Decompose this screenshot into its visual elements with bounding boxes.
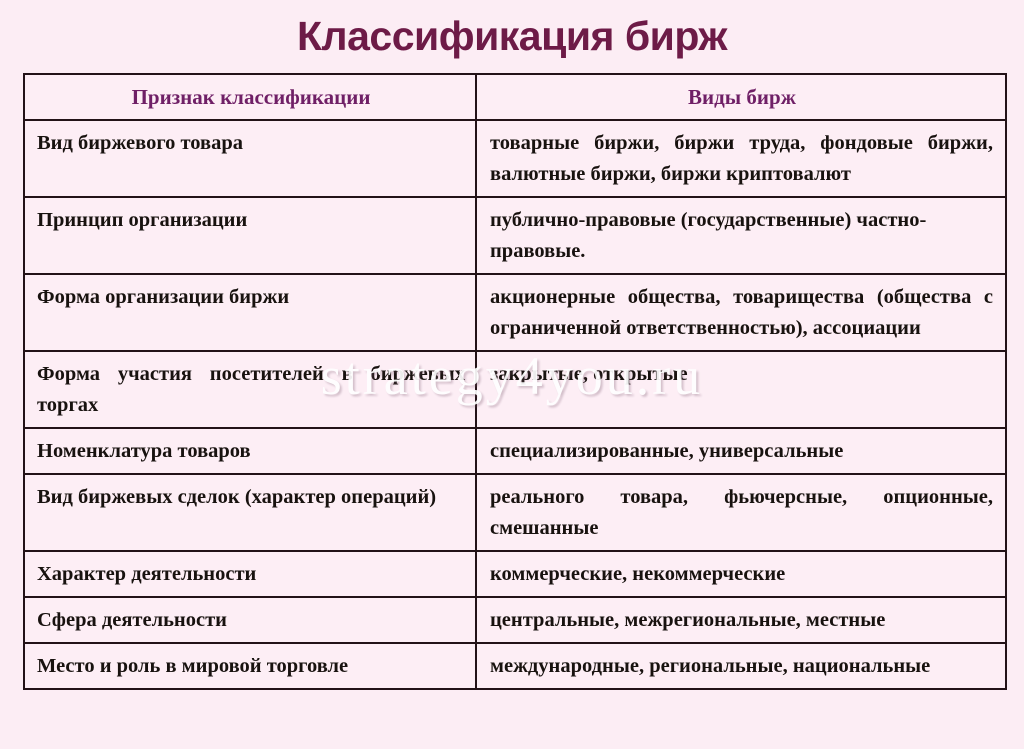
table-row: Вид биржевых сделок (характер операций) … xyxy=(24,474,1006,551)
table-row: Место и роль в мировой торговле междунар… xyxy=(24,643,1006,689)
table-row: Характер деятельности коммерческие, неко… xyxy=(24,551,1006,597)
cell-kinds: специализированные, универсальные xyxy=(476,428,1006,474)
cell-kinds: акционерные общества, товарищества (обще… xyxy=(476,274,1006,351)
table-row: Принцип организации публично-правовые (г… xyxy=(24,197,1006,274)
cell-feature: Сфера деятельности xyxy=(24,597,476,643)
cell-feature: Форма участия посетителей в биржевых тор… xyxy=(24,351,476,428)
cell-kinds: закрытые, открытые xyxy=(476,351,1006,428)
cell-kinds: международные, региональные, национальны… xyxy=(476,643,1006,689)
classification-table: Признак классификации Виды бирж Вид бирж… xyxy=(23,73,1007,690)
cell-feature: Форма организации биржи xyxy=(24,274,476,351)
cell-kinds: реального товара, фьючерсные, опционные,… xyxy=(476,474,1006,551)
table-head: Признак классификации Виды бирж xyxy=(24,74,1006,120)
cell-kinds: коммерческие, некоммерческие xyxy=(476,551,1006,597)
table-header-row: Признак классификации Виды бирж xyxy=(24,74,1006,120)
cell-kinds: публично-правовые (государственные) част… xyxy=(476,197,1006,274)
column-header-kinds: Виды бирж xyxy=(476,74,1006,120)
table-row: Сфера деятельности центральные, межрегио… xyxy=(24,597,1006,643)
table-body: Вид биржевого товара товарные биржи, бир… xyxy=(24,120,1006,689)
cell-feature: Место и роль в мировой торговле xyxy=(24,643,476,689)
cell-feature: Принцип организации xyxy=(24,197,476,274)
table-row: Форма участия посетителей в биржевых тор… xyxy=(24,351,1006,428)
cell-feature: Вид биржевых сделок (характер операций) xyxy=(24,474,476,551)
cell-kinds: товарные биржи, биржи труда, фондовые би… xyxy=(476,120,1006,197)
column-header-feature: Признак классификации xyxy=(24,74,476,120)
page-title: Классификация бирж xyxy=(0,12,1024,60)
table-row: Форма организации биржи акционерные обще… xyxy=(24,274,1006,351)
cell-feature: Номенклатура товаров xyxy=(24,428,476,474)
document-page: Классификация бирж Признак классификации… xyxy=(0,0,1024,749)
cell-kinds: центральные, межрегиональные, местные xyxy=(476,597,1006,643)
table-row: Вид биржевого товара товарные биржи, бир… xyxy=(24,120,1006,197)
cell-feature: Вид биржевого товара xyxy=(24,120,476,197)
cell-feature: Характер деятельности xyxy=(24,551,476,597)
table-row: Номенклатура товаров специализированные,… xyxy=(24,428,1006,474)
